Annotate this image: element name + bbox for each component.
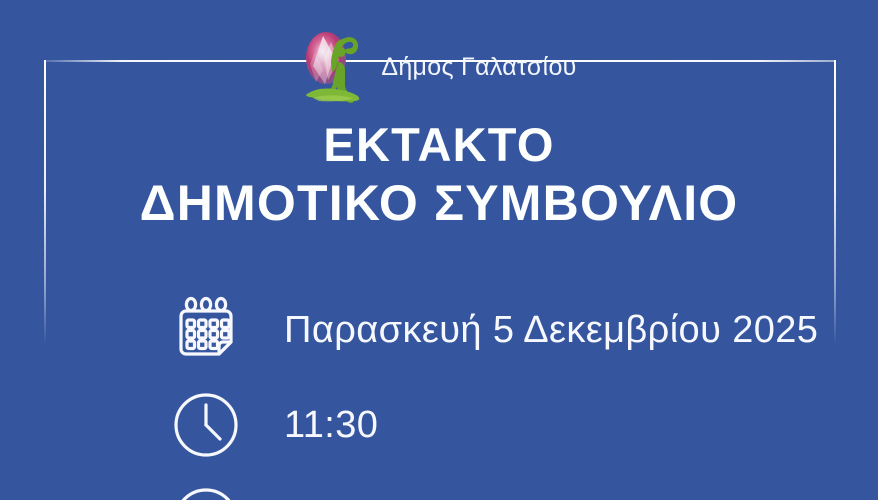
clock-icon xyxy=(170,389,242,461)
galatsi-municipality-logo-icon xyxy=(301,22,367,106)
detail-row-location xyxy=(170,472,870,500)
meeting-date: Παρασκευή 5 Δεκεμβρίου 2025 xyxy=(284,311,818,349)
detail-row-time: 11:30 xyxy=(170,377,870,472)
page-title: ΕΚΤΑΚΤΟ ΔΗΜΟΤΙΚΟ ΣΥΜΒΟΥΛΙΟ xyxy=(0,118,878,233)
announcement-poster: Δήμος Γαλατσίου ΕΚΤΑΚΤΟ ΔΗΜΟΤΙΚΟ ΣΥΜΒΟΥΛ… xyxy=(0,0,878,500)
circle-icon xyxy=(170,484,242,500)
headline-line-1: ΕΚΤΑΚΤΟ xyxy=(0,118,878,173)
detail-row-date: Παρασκευή 5 Δεκεμβρίου 2025 xyxy=(170,282,870,377)
organization-name: Δήμος Γαλατσίου xyxy=(381,49,576,80)
meeting-time: 11:30 xyxy=(284,406,378,444)
poster-header: Δήμος Γαλατσίου xyxy=(0,22,878,106)
calendar-icon xyxy=(170,294,242,366)
headline-line-2: ΔΗΜΟΤΙΚΟ ΣΥΜΒΟΥΛΙΟ xyxy=(0,173,878,233)
details-list: Παρασκευή 5 Δεκεμβρίου 2025 11:30 xyxy=(170,282,870,500)
